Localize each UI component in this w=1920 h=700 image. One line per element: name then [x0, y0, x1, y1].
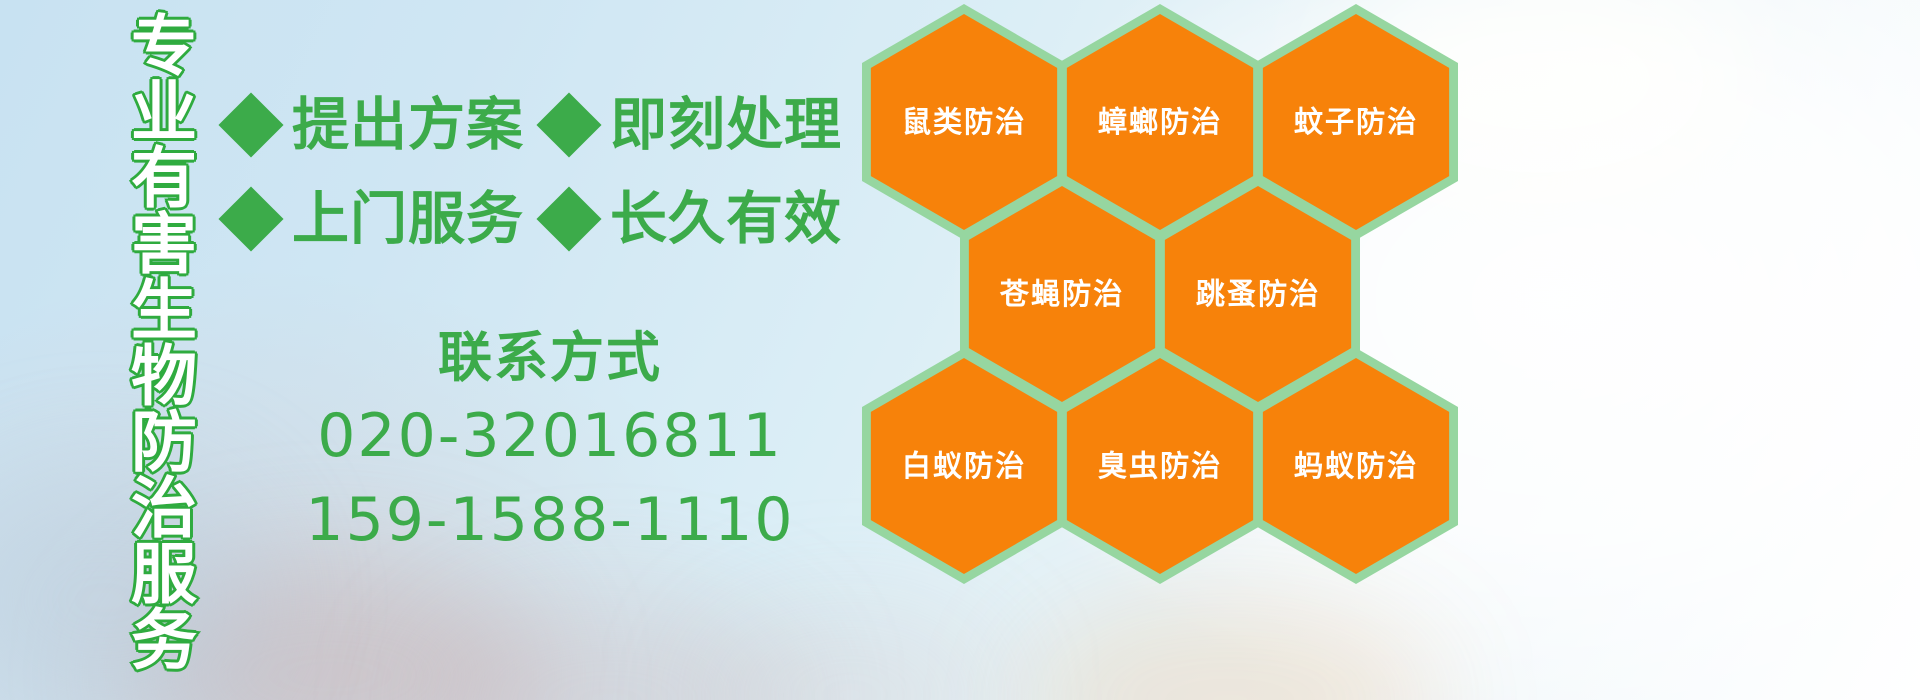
feature-item-long-lasting: 长久有效 — [546, 189, 842, 249]
feature-label: 即刻处理 — [610, 95, 842, 155]
service-label: 蟑螂防治 — [1098, 106, 1222, 137]
feature-row: 提出方案 即刻处理 — [228, 78, 868, 172]
diamond-bullet-icon — [536, 92, 601, 157]
vertical-headline-char: 生 — [131, 278, 197, 344]
vertical-headline-char: 有 — [131, 146, 197, 212]
vertical-headline-char: 业 — [131, 80, 197, 146]
phone-number-landline[interactable]: 020-32016811 — [300, 394, 800, 478]
background-haze — [1020, 600, 1440, 700]
contact-block: 联系方式 020-32016811 159-1588-1110 — [300, 322, 800, 562]
service-label: 臭虫防治 — [1098, 450, 1222, 481]
vertical-headline-char: 服 — [131, 542, 197, 608]
service-label: 鼠类防治 — [902, 106, 1026, 137]
service-honeycomb-grid: 鼠类防治 蟑螂防治 蚊子防治 苍蝇防治 跳蚤防治 — [862, 4, 1462, 564]
vertical-headline-char: 防 — [131, 410, 197, 476]
feature-label: 长久有效 — [610, 189, 842, 249]
phone-number-mobile[interactable]: 159-1588-1110 — [300, 478, 800, 562]
vertical-headline-char: 专 — [131, 14, 197, 80]
service-label: 白蚁防治 — [902, 450, 1026, 481]
vertical-headline-char: 害 — [131, 212, 197, 278]
vertical-headline: 专 业 有 害 生 物 防 治 服 务 — [110, 14, 218, 674]
service-label: 蚊子防治 — [1294, 106, 1418, 137]
service-label: 跳蚤防治 — [1196, 278, 1320, 309]
background-haze — [700, 610, 1000, 700]
feature-list: 提出方案 即刻处理 上门服务 长久有效 — [228, 78, 868, 266]
promotional-banner: 专 业 有 害 生 物 防 治 服 务 提出方案 即刻处理 上门服务 — [0, 0, 1920, 700]
service-hex-termite[interactable]: 白蚁防治 — [862, 348, 1066, 584]
vertical-headline-char: 务 — [131, 608, 197, 674]
feature-item-onsite-service: 上门服务 — [228, 189, 524, 249]
background-haze — [420, 600, 800, 700]
feature-item-immediate-handling: 即刻处理 — [546, 95, 842, 155]
feature-row: 上门服务 长久有效 — [228, 172, 868, 266]
service-hex-ant[interactable]: 蚂蚁防治 — [1254, 348, 1458, 584]
diamond-bullet-icon — [218, 186, 283, 251]
vertical-headline-char: 治 — [131, 476, 197, 542]
diamond-bullet-icon — [536, 186, 601, 251]
service-label: 苍蝇防治 — [1000, 278, 1124, 309]
feature-item-propose-plan: 提出方案 — [228, 95, 524, 155]
diamond-bullet-icon — [218, 92, 283, 157]
contact-title: 联系方式 — [300, 322, 800, 394]
vertical-headline-char: 物 — [131, 344, 197, 410]
feature-label: 提出方案 — [292, 95, 524, 155]
service-label: 蚂蚁防治 — [1294, 450, 1418, 481]
feature-label: 上门服务 — [292, 189, 524, 249]
service-hex-bedbug[interactable]: 臭虫防治 — [1058, 348, 1262, 584]
